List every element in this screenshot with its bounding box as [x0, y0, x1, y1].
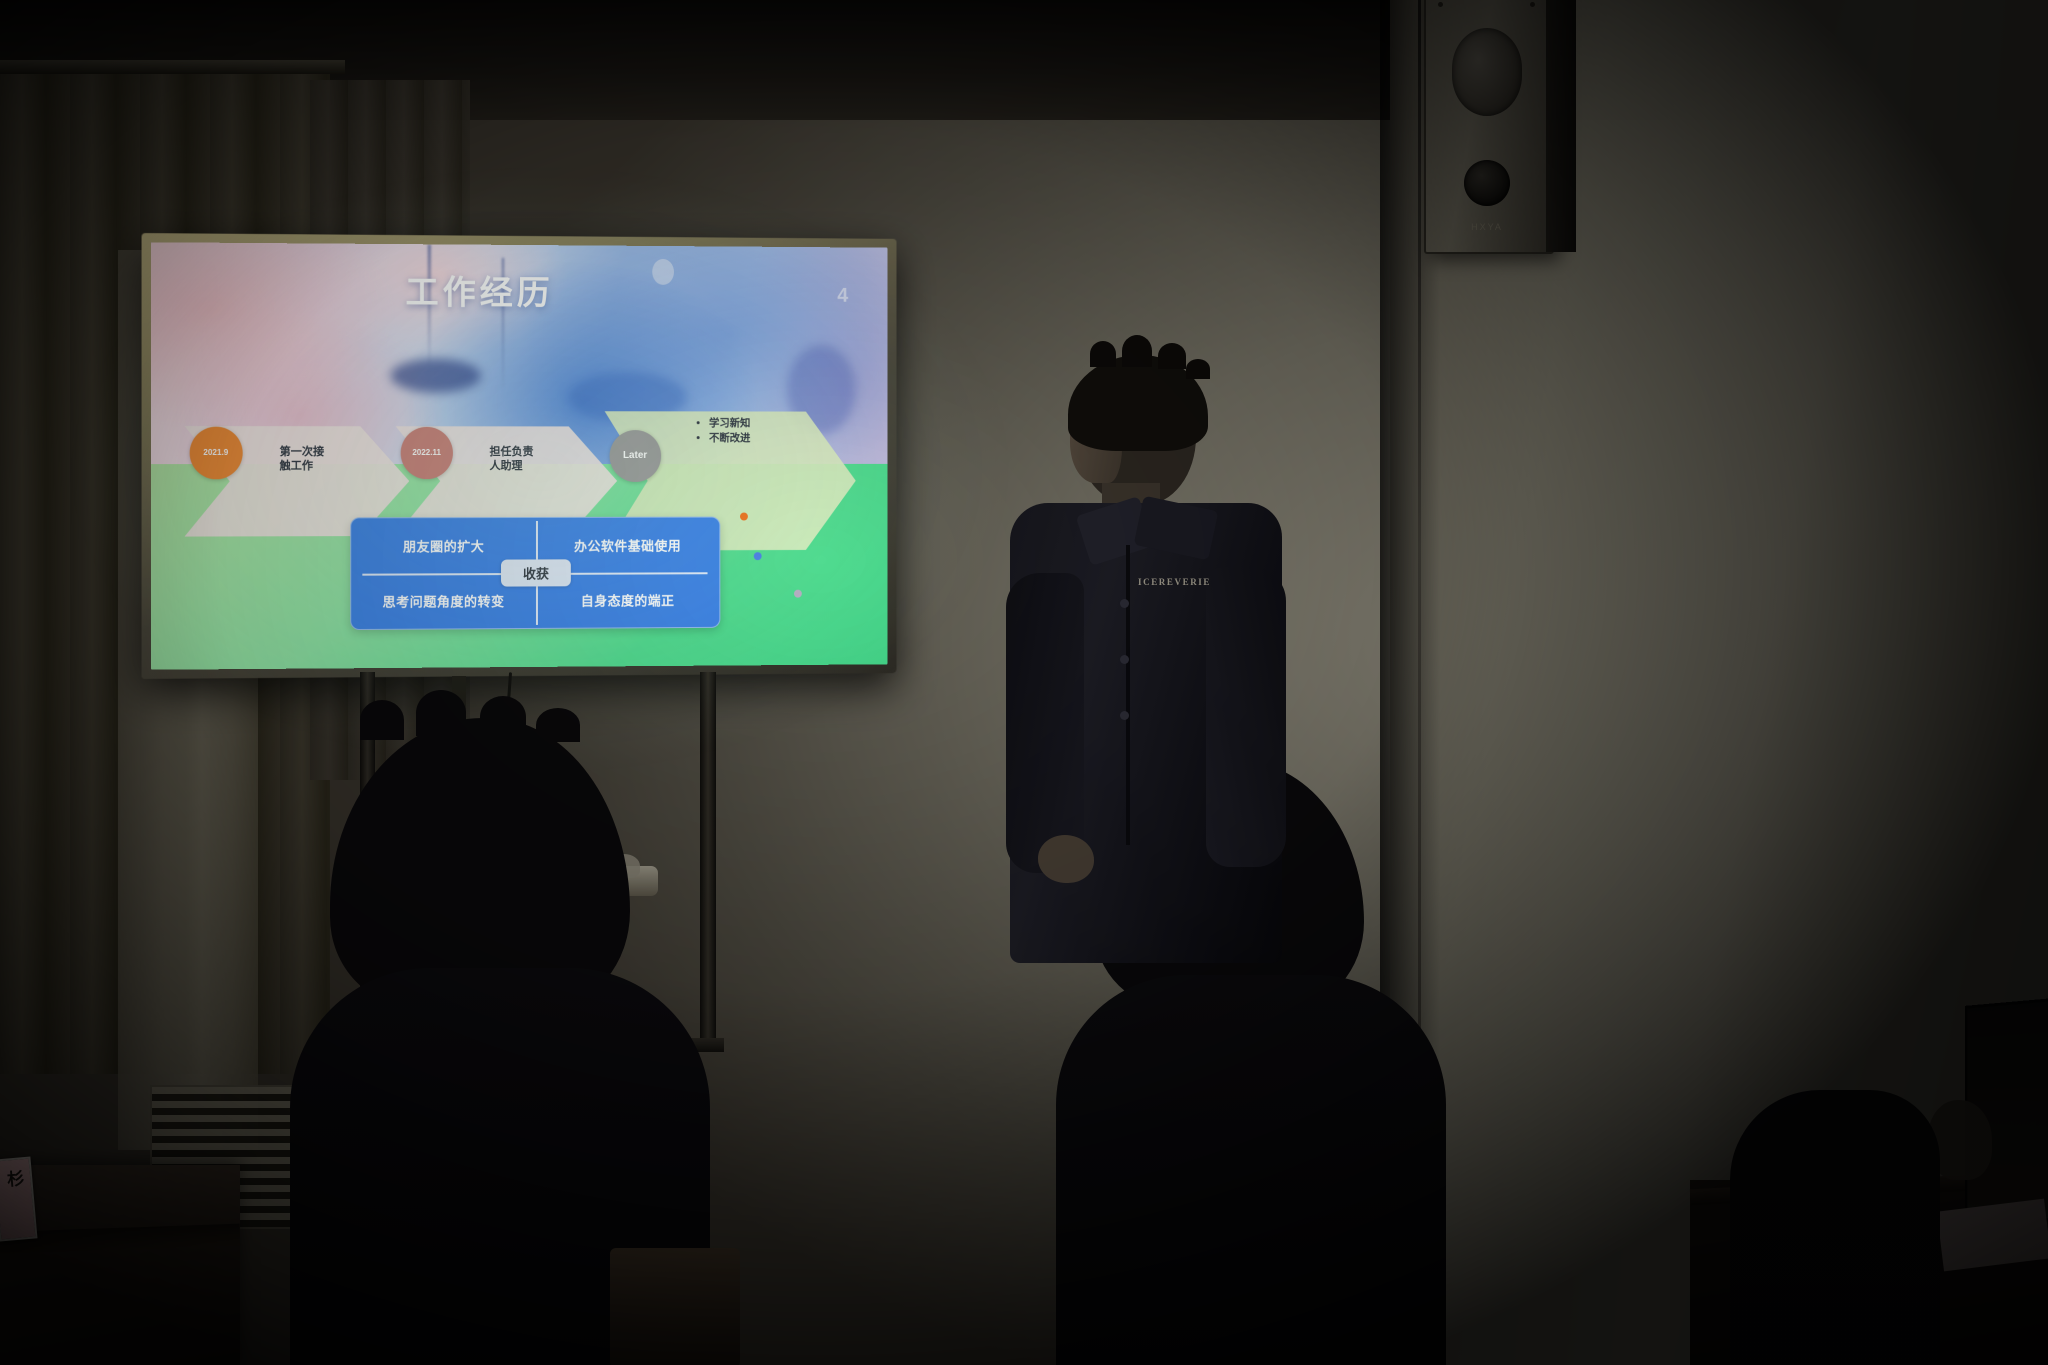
- timeline-badge-label: Later: [623, 450, 647, 461]
- wall-speaker-side: [1546, 0, 1576, 252]
- audience-hair: [330, 718, 630, 1008]
- presenter-arm-right: [1206, 567, 1286, 867]
- timeline-badge-label: 2022.11: [412, 448, 441, 457]
- timeline-label-line2: 触工作: [280, 459, 325, 473]
- slide-number: 4: [837, 285, 848, 308]
- timeline-label: 担任负责 人助理: [489, 445, 533, 473]
- timeline-bullet: 学习新知: [709, 418, 750, 432]
- timeline-bullet: 不断改进: [709, 432, 750, 446]
- audience-torso: [1730, 1090, 1940, 1365]
- audience-member-far-right: [1730, 1050, 1910, 1365]
- paper-sheet-secondary: [1937, 1199, 2048, 1272]
- tv-stand-pole-right: [700, 672, 716, 1052]
- speaker-tweeter-icon: [1452, 28, 1522, 116]
- quadrant-cell-label: 思考问题角度的转变: [383, 591, 505, 611]
- presenter-hand: [1038, 835, 1094, 883]
- timeline-label: 第一次接 触工作: [280, 445, 325, 473]
- timeline-label-line2: 人助理: [489, 459, 533, 473]
- photo-scene: HXYA 工作经历 4: [0, 0, 2048, 1365]
- presentation-slide: 工作经历 4 2021.9 第一次接 触工作: [151, 242, 888, 670]
- chair-back: [610, 1248, 740, 1365]
- quadrant-diagram: 朋友圈的扩大 办公软件基础使用 思考问题角度的转变 自身态度的端正 收获: [350, 517, 720, 630]
- timeline-label-line1: 担任负责: [489, 445, 533, 459]
- quadrant-cell-label: 朋友圈的扩大: [403, 536, 484, 555]
- timeline-bullet-list: 学习新知 不断改进: [700, 418, 750, 447]
- speaker-brand-label: HXYA: [1456, 222, 1518, 232]
- audience-member-front-left: [320, 718, 660, 1365]
- decor-circle-icon: [652, 259, 674, 285]
- wall-mounted-tv: 工作经历 4 2021.9 第一次接 触工作: [146, 236, 902, 676]
- timeline-label-line1: 第一次接: [280, 445, 325, 459]
- curtain-rod: [0, 60, 345, 74]
- presenter: ICEREVERIE: [1010, 355, 1310, 955]
- placard-text: 杉: [0, 1169, 27, 1188]
- quadrant-cell-label: 自身态度的端正: [581, 590, 675, 609]
- speaker-woofer-icon: [1464, 160, 1510, 206]
- audience-torso: [1056, 975, 1446, 1365]
- presenter-arm-left: [1006, 573, 1084, 873]
- tv-screen: 工作经历 4 2021.9 第一次接 触工作: [151, 242, 888, 670]
- timeline-badge-label: 2021.9: [203, 448, 228, 457]
- orange-dot-icon: [740, 513, 748, 521]
- desk-left: [0, 1165, 240, 1365]
- jacket-logo-text: ICEREVERIE: [1138, 577, 1211, 587]
- quadrant-center-label: 收获: [501, 559, 571, 586]
- presenter-jacket-placket: [1126, 545, 1130, 845]
- timeline-badge: 2022.11: [400, 426, 452, 478]
- slide-title: 工作经历: [405, 265, 553, 314]
- quadrant-cell-label: 办公软件基础使用: [574, 536, 681, 555]
